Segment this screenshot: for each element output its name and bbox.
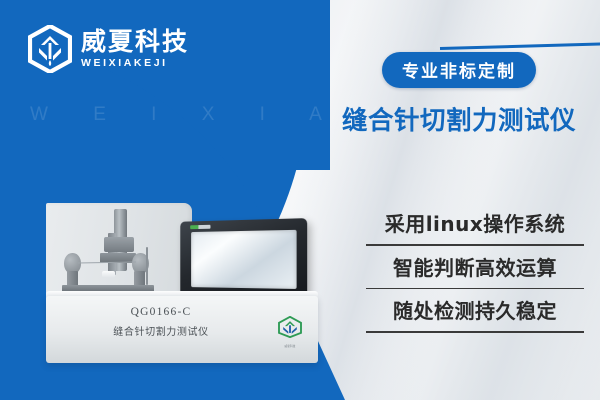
machine-model: QG0166-C	[46, 306, 276, 318]
fixture-wire	[78, 261, 136, 263]
test-fixture-icon	[62, 209, 180, 301]
headline-block: 专业非标定制 缝合针切割力测试仪	[330, 52, 588, 137]
fixture-head	[104, 237, 134, 252]
feature-divider	[366, 288, 584, 290]
machine-label: QG0166-C 缝合针切割力测试仪	[46, 306, 276, 338]
screen-glass	[191, 230, 297, 289]
machine-brand-badge: 威夏科技	[274, 316, 306, 348]
green-hexagon-logo-icon	[277, 316, 303, 338]
machine-badge-subtext: 威夏科技	[274, 344, 306, 348]
machine-name: 缝合针切割力测试仪	[46, 323, 276, 338]
hexagon-emblem-icon	[28, 25, 72, 73]
brand-logo: 威夏科技 WEIXIAKEJI	[28, 25, 189, 73]
screen-brand-tag-icon	[190, 225, 210, 229]
fixture-sample	[102, 271, 115, 278]
feature-item: 智能判断高效运算	[366, 249, 584, 286]
product-banner: W E I X I A K E J I 威夏科技 WEIXIAKEJI 专业非标…	[0, 0, 600, 400]
feature-item: 采用linux操作系统	[366, 205, 584, 242]
feature-item: 随处检测持久稳定	[366, 292, 584, 329]
brand-name-cn: 威夏科技	[81, 29, 189, 54]
product-title: 缝合针切割力测试仪	[330, 100, 588, 137]
feature-list: 采用linux操作系统 智能判断高效运算 随处检测持久稳定	[366, 205, 584, 336]
custom-badge: 专业非标定制	[382, 52, 536, 88]
brand-logo-text: 威夏科技 WEIXIAKEJI	[81, 29, 189, 69]
feature-divider	[366, 331, 584, 333]
feature-divider	[366, 244, 584, 246]
product-machine: QG0166-C 缝合针切割力测试仪 威夏科技	[46, 203, 324, 366]
brand-name-en: WEIXIAKEJI	[81, 58, 189, 69]
fixture-cable	[146, 247, 148, 285]
